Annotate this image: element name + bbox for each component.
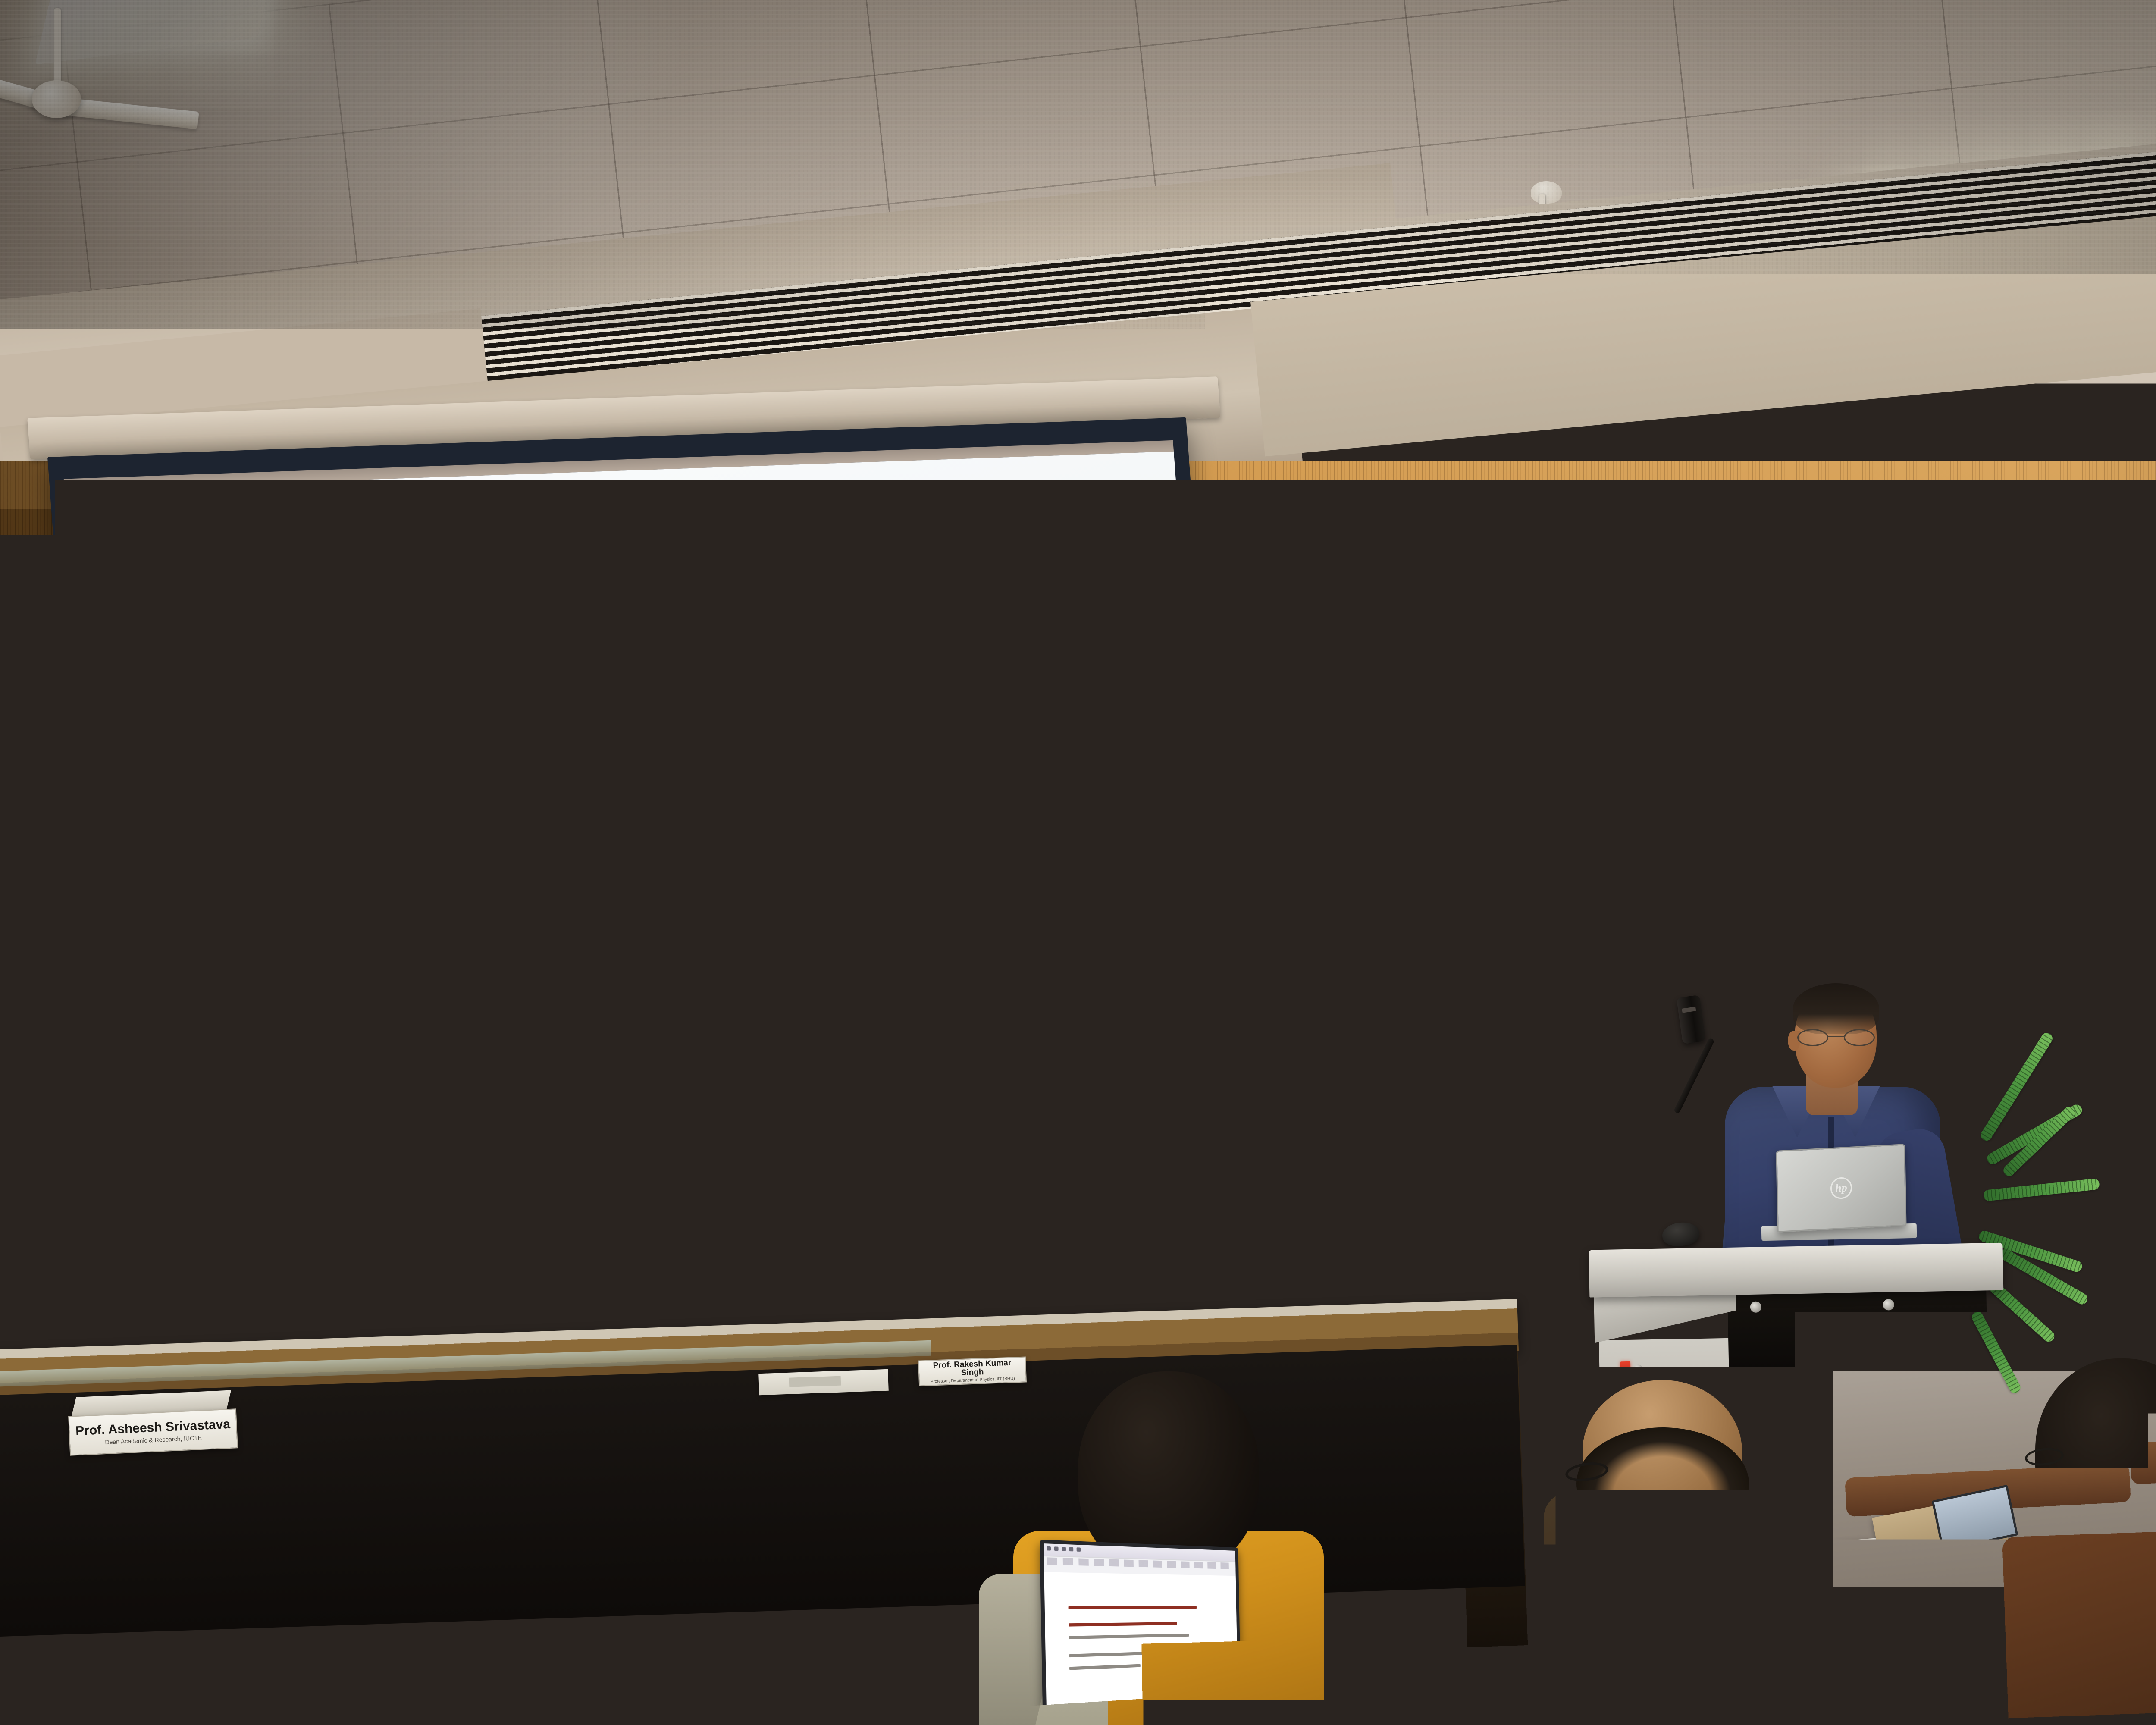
podium-front-panel (1727, 1286, 1988, 1385)
wifi-sign-name: Wi-Fi Name: IUCTE_Wi-Fi (1811, 946, 1872, 954)
slide-body-text: Empowering Indian Youth for Global Leade… (147, 711, 1161, 836)
wifi-sign-title: IUCTE BHU (1823, 935, 1860, 943)
nameplate-asheesh-srivastava: Prof. Asheesh Srivastava Dean Academic &… (68, 1408, 238, 1456)
audience-member-grey-jacket (1984, 1358, 2156, 1725)
wifi-info-sign: IUCTE BHU Wi-Fi Name: IUCTE_Wi-Fi Passwo… (1798, 922, 1885, 974)
speaker-glasses-icon (1797, 1029, 1877, 1047)
light-switch-plate[interactable] (2042, 1056, 2098, 1087)
wifi-router (1034, 1206, 1128, 1240)
audience-member-brown-vest (1501, 1380, 1889, 1725)
audience-laptop[interactable] (1040, 1540, 1241, 1724)
downlight (1552, 483, 1695, 625)
speaker-hair (1793, 983, 1879, 1034)
projection-screen: Theme Empowering Indian Youth for Global… (47, 417, 1237, 1154)
podium-desktop (1589, 1243, 2003, 1298)
light-switch-plate[interactable] (1557, 1074, 1613, 1103)
hp-logo-icon: hp (1830, 1177, 1852, 1200)
presenter-laptop[interactable]: hp (1776, 1144, 1906, 1233)
dais-wood-panel (0, 1123, 774, 1358)
wifi-sign-password: Password: Academic@2023 (1809, 954, 1874, 963)
word-document (1061, 1594, 1232, 1719)
paper-on-table (758, 1369, 889, 1395)
seminar-hall-photo: IUCTE BHU Wi-Fi Name: IUCTE_Wi-Fi Passwo… (0, 0, 2156, 1725)
screen-border: Theme Empowering Indian Youth for Global… (47, 417, 1237, 1154)
slide-title: Theme (133, 537, 263, 590)
slide-surface: Theme Empowering Indian Youth for Global… (65, 452, 1222, 1139)
